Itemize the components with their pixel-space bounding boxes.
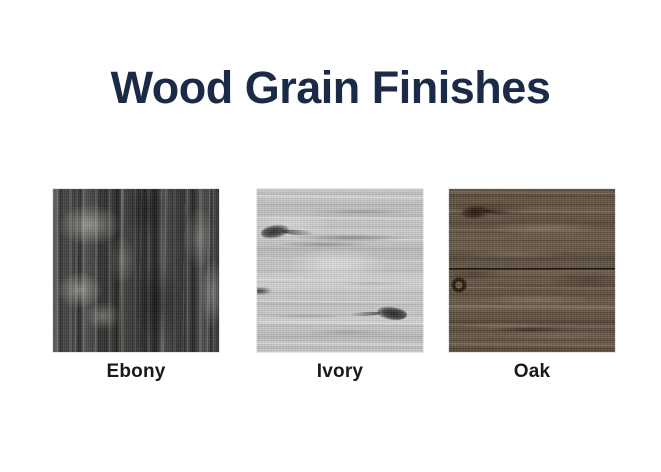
wood-swatch-ivory-icon[interactable] xyxy=(257,189,423,352)
slide-canvas: Wood Grain Finishes Ebony Ivor xyxy=(0,0,661,472)
finish-label-oak: Oak xyxy=(429,361,635,383)
page-title: Wood Grain Finishes xyxy=(0,63,661,113)
finish-label-ebony: Ebony xyxy=(33,361,239,383)
oak-grain-texture xyxy=(449,189,615,352)
finish-swatch-ebony[interactable]: Ebony xyxy=(53,189,219,352)
finish-swatch-oak[interactable]: Oak xyxy=(449,189,615,352)
finish-swatch-ivory[interactable]: Ivory xyxy=(257,189,423,352)
finish-label-ivory: Ivory xyxy=(237,361,443,383)
finish-swatch-row: Ebony Ivory xyxy=(0,189,661,399)
wood-swatch-oak-icon[interactable] xyxy=(449,189,615,352)
wood-swatch-ebony-icon[interactable] xyxy=(53,189,219,352)
ivory-grain-texture xyxy=(257,189,423,352)
ebony-grain-texture xyxy=(53,189,219,352)
